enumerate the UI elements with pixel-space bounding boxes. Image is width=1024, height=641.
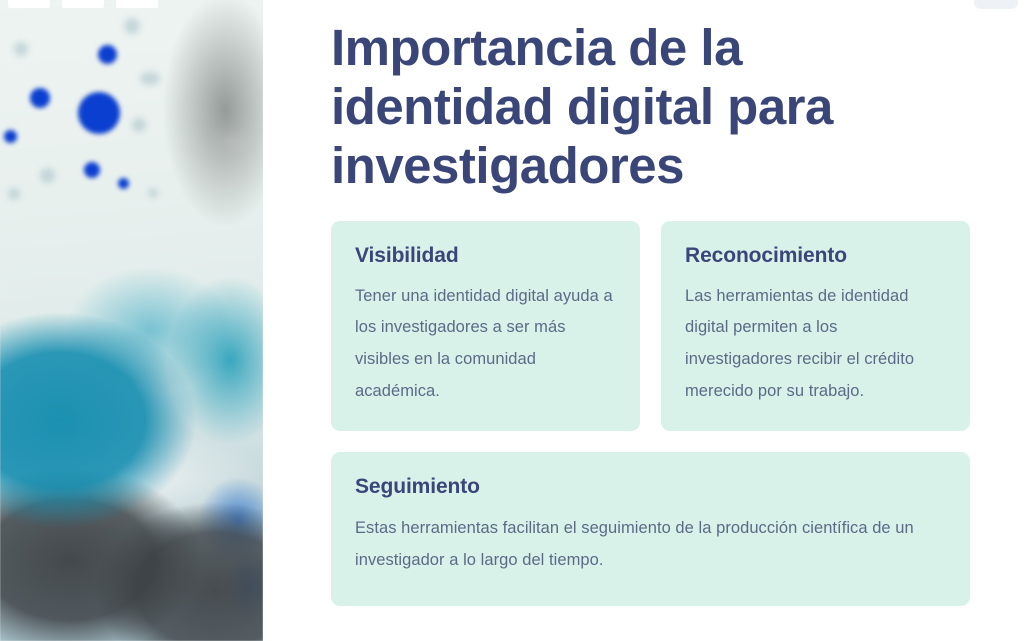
top-right-chrome bbox=[974, 0, 1018, 9]
content-area: Importancia de la identidad digital para… bbox=[263, 0, 1024, 641]
molecule-dot bbox=[124, 18, 140, 34]
lab-photo-panel bbox=[0, 0, 263, 641]
card-title: Reconocimiento bbox=[685, 243, 946, 268]
molecule-dot bbox=[84, 162, 100, 178]
page-title: Importancia de la identidad digital para… bbox=[331, 18, 970, 195]
card-row-top: Visibilidad Tener una identidad digital … bbox=[331, 221, 970, 431]
card-title: Seguimiento bbox=[355, 474, 946, 499]
card-reconocimiento: Reconocimiento Las herramientas de ident… bbox=[661, 221, 970, 431]
chip bbox=[116, 0, 158, 8]
card-title: Visibilidad bbox=[355, 243, 616, 268]
molecule-graphic bbox=[0, 0, 263, 641]
molecule-dot bbox=[98, 45, 117, 64]
card-body: Las herramientas de identidad digital pe… bbox=[685, 281, 946, 408]
molecule-dot bbox=[118, 178, 129, 189]
molecule-dot bbox=[8, 188, 20, 200]
card-body: Estas herramientas facilitan el seguimie… bbox=[355, 512, 946, 576]
card-visibilidad: Visibilidad Tener una identidad digital … bbox=[331, 221, 640, 431]
molecule-dot bbox=[30, 88, 50, 108]
molecule-dot bbox=[4, 130, 17, 143]
card-seguimiento: Seguimiento Estas herramientas facilitan… bbox=[331, 452, 970, 606]
molecule-dot bbox=[78, 92, 120, 134]
chip bbox=[62, 0, 104, 8]
molecule-dot bbox=[14, 42, 28, 56]
top-chip-bar bbox=[8, 0, 158, 8]
molecule-dot bbox=[148, 188, 158, 198]
chip bbox=[8, 0, 50, 8]
card-body: Tener una identidad digital ayuda a los … bbox=[355, 281, 616, 408]
molecule-dot bbox=[40, 168, 55, 183]
molecule-dot bbox=[132, 118, 146, 132]
card-row-bottom: Seguimiento Estas herramientas facilitan… bbox=[331, 452, 970, 606]
slide: Importancia de la identidad digital para… bbox=[0, 0, 1024, 641]
molecule-dot bbox=[140, 72, 160, 85]
